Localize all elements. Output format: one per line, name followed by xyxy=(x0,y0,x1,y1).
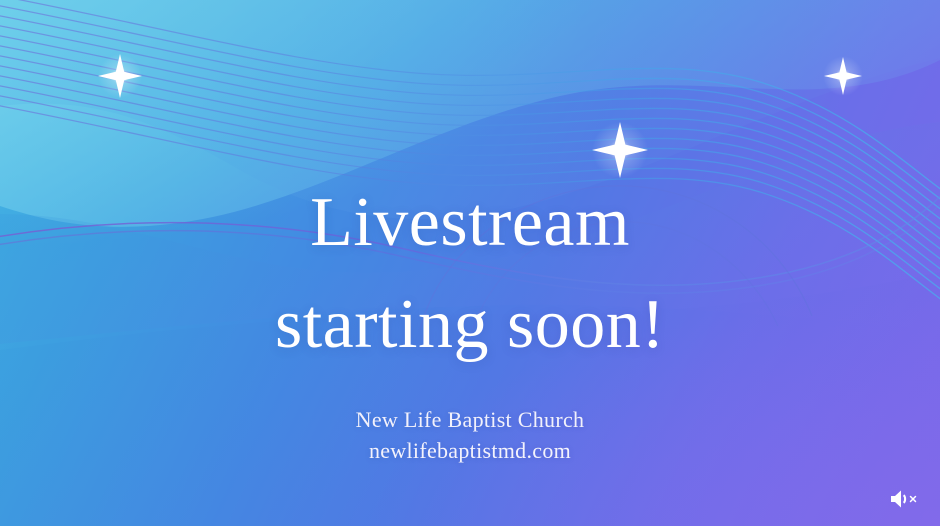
mute-indicator[interactable] xyxy=(882,484,926,514)
subtitle-block: New Life Baptist Church newlifebaptistmd… xyxy=(356,404,585,466)
headline-line-1: Livestream xyxy=(310,184,630,261)
livestream-slide: Livestream starting soon! New Life Bapti… xyxy=(0,0,940,526)
organization-name: New Life Baptist Church xyxy=(356,404,585,435)
website-url: newlifebaptistmd.com xyxy=(356,435,585,466)
speaker-muted-icon[interactable] xyxy=(889,488,919,510)
page-title: Livestream starting soon! xyxy=(275,188,665,360)
headline-line-2: starting soon! xyxy=(275,290,665,360)
slide-content: Livestream starting soon! New Life Bapti… xyxy=(0,0,940,526)
